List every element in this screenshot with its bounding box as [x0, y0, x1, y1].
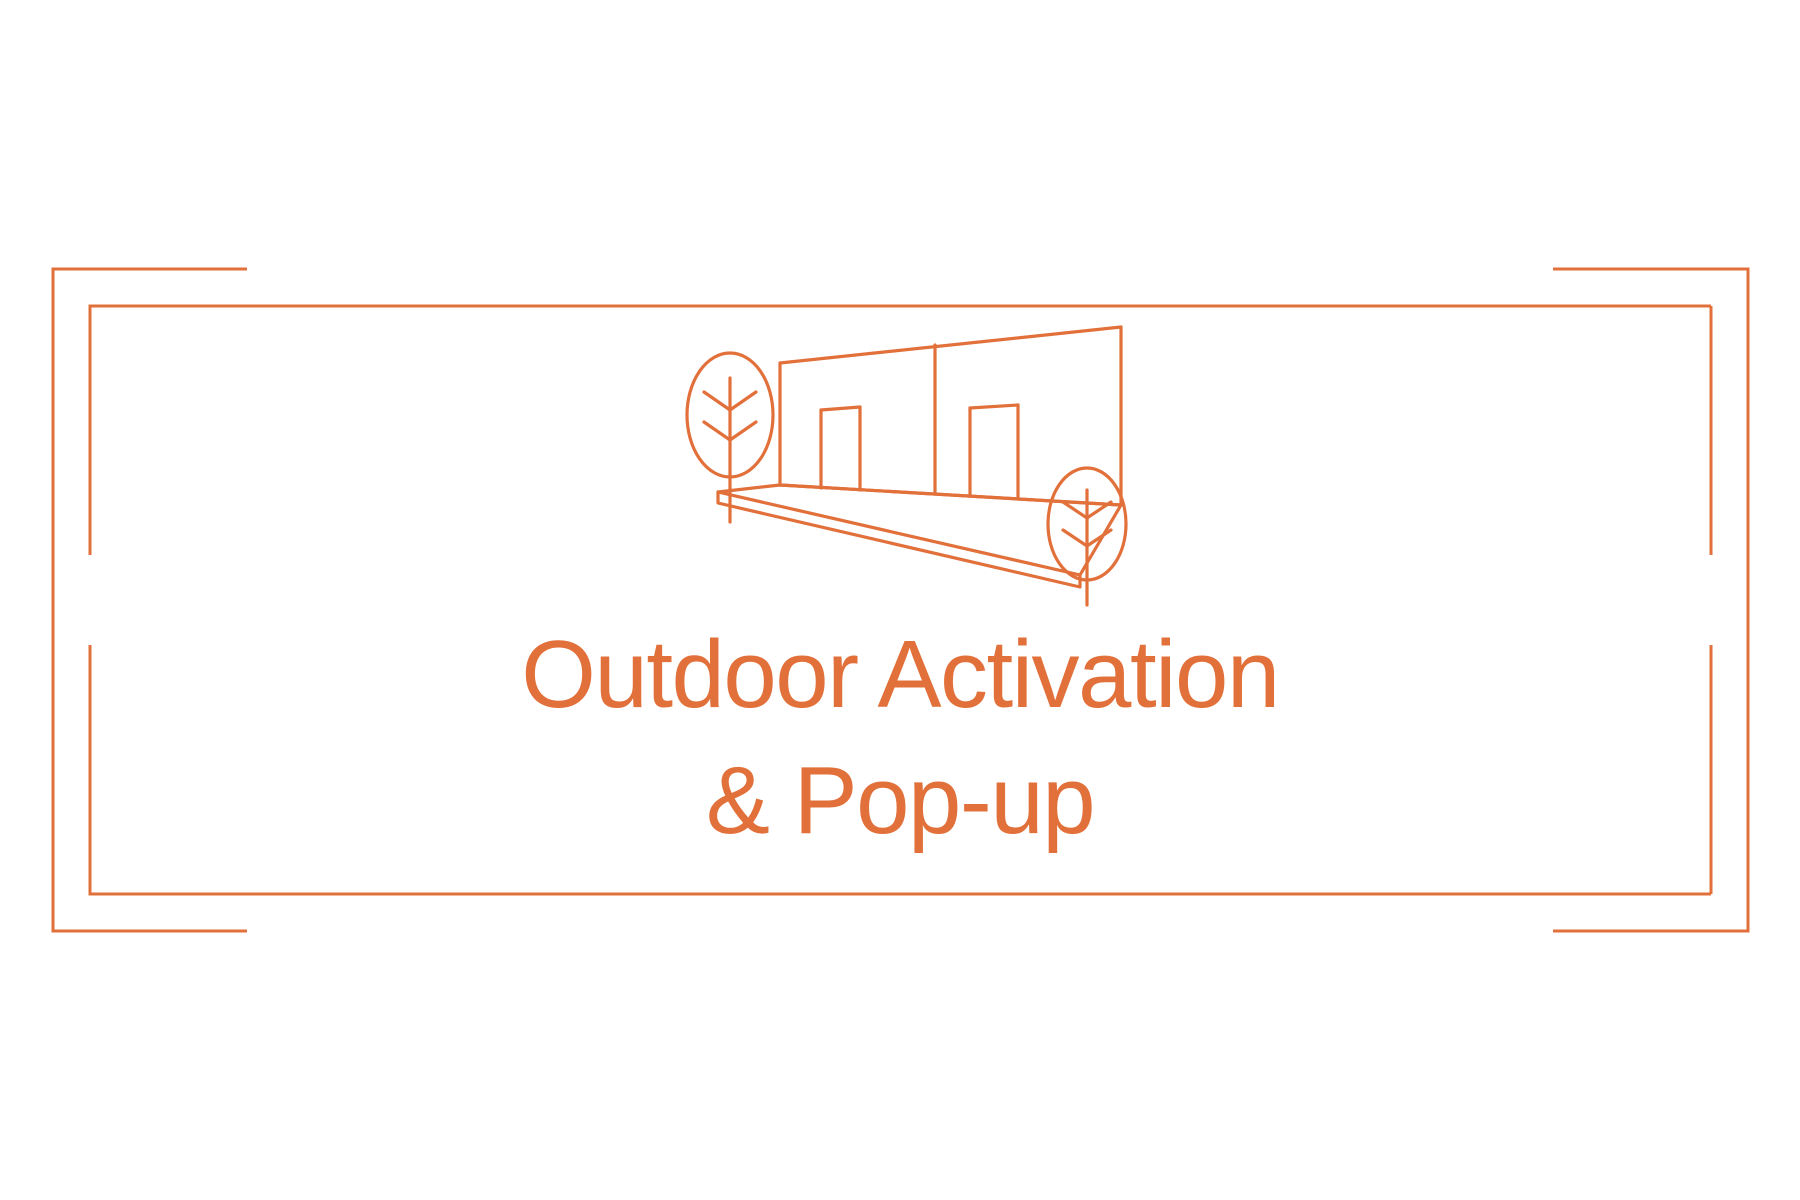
- tree-right-branch-3: [1063, 530, 1087, 546]
- tree-left-branch-4: [730, 422, 756, 440]
- pavilion-line-art-svg: [660, 300, 1180, 630]
- outdoor-pavilion-illustration: [660, 300, 1180, 630]
- wall-top-edge: [780, 327, 1121, 363]
- tree-right-branch-1: [1063, 502, 1087, 518]
- deck-front-face: [718, 492, 1080, 587]
- title-line-2: & Pop-up: [0, 738, 1800, 864]
- tree-left-branch-3: [704, 422, 730, 440]
- tree-left-branch-1: [704, 392, 730, 410]
- page-title: Outdoor Activation & Pop-up: [0, 612, 1800, 864]
- slide-canvas: Outdoor Activation & Pop-up: [0, 0, 1800, 1200]
- doorway-left-head: [821, 407, 860, 410]
- title-line-1: Outdoor Activation: [0, 612, 1800, 738]
- tree-left-branch-2: [730, 392, 756, 410]
- deck-top-surface: [718, 485, 1121, 575]
- doorway-right-head: [970, 405, 1018, 408]
